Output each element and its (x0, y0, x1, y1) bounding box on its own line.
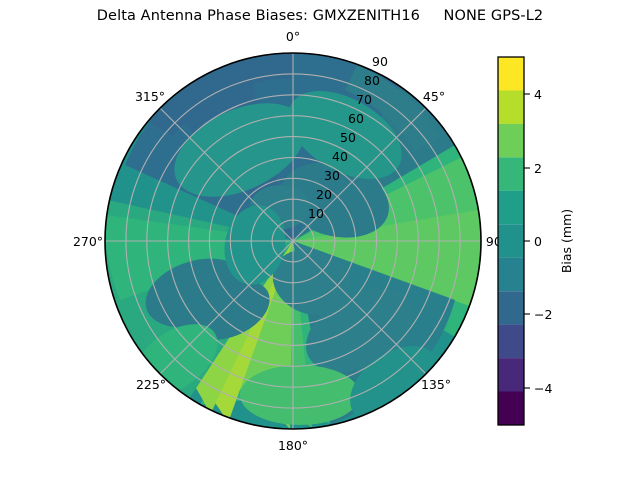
colorbar-band-9 (498, 90, 524, 123)
colorbar-tick-labels: 4 2 0 −2 −4 (534, 87, 552, 396)
radial-label-60: 60 (348, 111, 364, 126)
colorbar-label-4: 4 (534, 87, 542, 102)
angular-label-180: 180° (278, 438, 308, 453)
radial-label-70: 70 (356, 92, 372, 107)
polar-bias-chart: 0° 45° 90° 135° 180° 225° 270° 315° 10 2… (0, 0, 640, 480)
colorbar-band-5 (498, 224, 524, 257)
radial-label-80: 80 (364, 73, 380, 88)
radial-label-10: 10 (308, 206, 324, 221)
colorbar-label-minus2: −2 (534, 307, 552, 322)
angular-label-0: 0° (286, 29, 300, 44)
colorbar-band-7 (498, 157, 524, 190)
colorbar-label-0: 0 (534, 234, 542, 249)
colorbar-band-0 (498, 392, 524, 426)
colorbar-band-1 (498, 358, 524, 391)
colorbar[interactable]: 4 2 0 −2 −4 Bias (mm) (498, 57, 574, 425)
radial-label-40: 40 (332, 149, 348, 164)
colorbar-label-minus4: −4 (534, 381, 552, 396)
colorbar-label-2: 2 (534, 161, 542, 176)
angular-label-45: 45° (423, 89, 445, 104)
colorbar-axis-title: Bias (mm) (559, 209, 574, 273)
angular-label-225: 225° (136, 377, 166, 392)
colorbar-band-8 (498, 124, 524, 157)
contour-patch-south-green (240, 365, 360, 425)
figure-canvas: Delta Antenna Phase Biases: GMXZENITH16 … (0, 0, 640, 480)
colorbar-band-2 (498, 325, 524, 358)
radial-label-90: 90 (372, 54, 388, 69)
angular-label-270: 270° (73, 234, 103, 249)
colorbar-band-6 (498, 191, 524, 224)
angular-label-315: 315° (135, 89, 165, 104)
colorbar-ticks (524, 94, 530, 388)
colorbar-band-10 (498, 57, 524, 90)
colorbar-swatches (498, 57, 524, 425)
radial-label-50: 50 (340, 130, 356, 145)
colorbar-band-3 (498, 291, 524, 324)
radial-label-20: 20 (316, 187, 332, 202)
colorbar-band-4 (498, 258, 524, 291)
angular-label-135: 135° (421, 377, 451, 392)
polar-grid (105, 53, 481, 429)
radial-label-30: 30 (324, 168, 340, 183)
